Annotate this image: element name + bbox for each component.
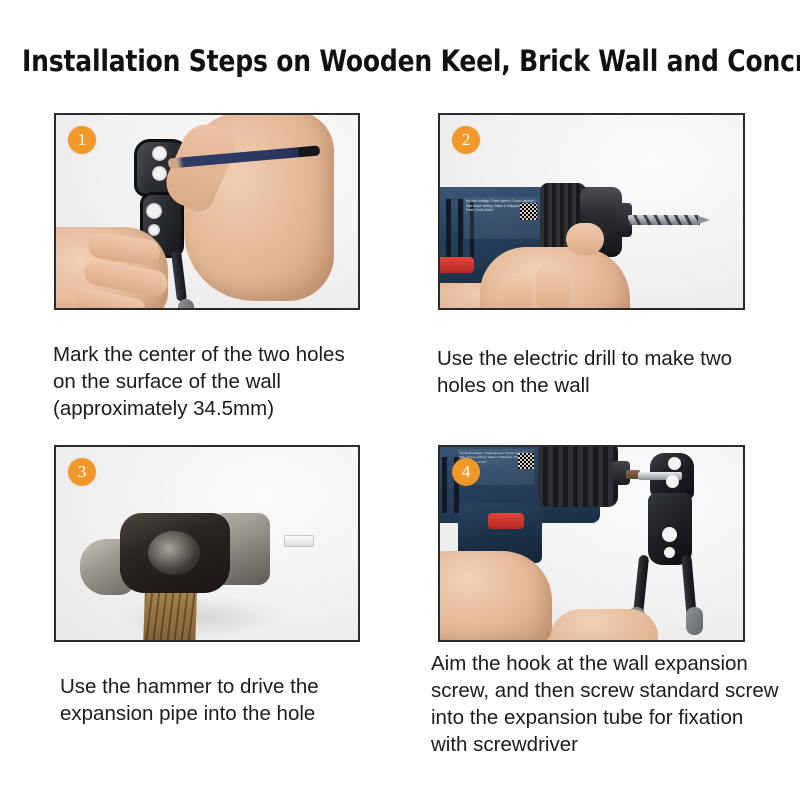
bracket-hole-mid-4 [662, 527, 677, 542]
bracket-tip-right-4 [686, 607, 703, 635]
hammer-head-3 [120, 513, 230, 593]
step-photo-2: Nominal voltage / Rated speed / Chuck ca… [438, 113, 745, 310]
page-title: Installation Steps on Wooden Keel, Brick… [22, 44, 752, 78]
hammer-shadow-3 [116, 595, 286, 639]
bracket-hole-top-1 [152, 146, 167, 161]
step-card-2: Nominal voltage / Rated speed / Chuck ca… [438, 113, 745, 310]
supporting-hand-4 [548, 609, 658, 642]
step-caption-3: Use the hammer to drive the expansion pi… [60, 673, 390, 727]
finger-2c [500, 273, 532, 310]
installation-instruction-page: Installation Steps on Wooden Keel, Brick… [0, 0, 800, 800]
bracket-hole-upper-1 [152, 166, 167, 181]
bracket-hole-low-4 [664, 547, 675, 558]
bracket-hole-low-1 [148, 224, 160, 236]
drill-trigger-2 [438, 257, 474, 273]
step-badge-1: 1 [68, 126, 96, 154]
step-caption-2: Use the electric drill to make two holes… [437, 345, 782, 399]
bracket-tip-right-1 [178, 299, 194, 310]
step-photo-1: 1 [54, 113, 360, 310]
step-card-3: 3 Use the hammer to drive the expansion … [54, 445, 360, 642]
bracket-hole-mid-1 [146, 203, 162, 219]
gripping-hand-4 [438, 551, 552, 642]
drill-bit-2 [628, 215, 700, 225]
expansion-plug-3 [284, 535, 314, 547]
qr-code-icon-4 [518, 453, 534, 469]
finger-2a [566, 223, 604, 255]
drill-trigger-4 [488, 513, 524, 529]
bracket-hole-upper-4 [666, 475, 679, 488]
step-badge-4: 4 [452, 458, 480, 486]
step-caption-4: Aim the hook at the wall expansion screw… [431, 650, 786, 758]
step-photo-4: Nominal voltage / Rated speed / Chuck ca… [438, 445, 745, 642]
step-photo-3: 3 [54, 445, 360, 642]
step-caption-1: Mark the center of the two holes on the … [53, 341, 393, 422]
drill-bit-tip-2 [698, 216, 710, 224]
step-card-1: 1 Mark the center of the two holes on th… [54, 113, 360, 310]
drill-chuck-4 [538, 445, 618, 507]
step-badge-3: 3 [68, 458, 96, 486]
step-card-4: Nominal voltage / Rated speed / Chuck ca… [438, 445, 745, 642]
step-badge-2: 2 [452, 126, 480, 154]
bracket-hole-top-4 [668, 457, 681, 470]
qr-code-icon-2 [520, 203, 537, 220]
finger-2b [536, 263, 570, 310]
